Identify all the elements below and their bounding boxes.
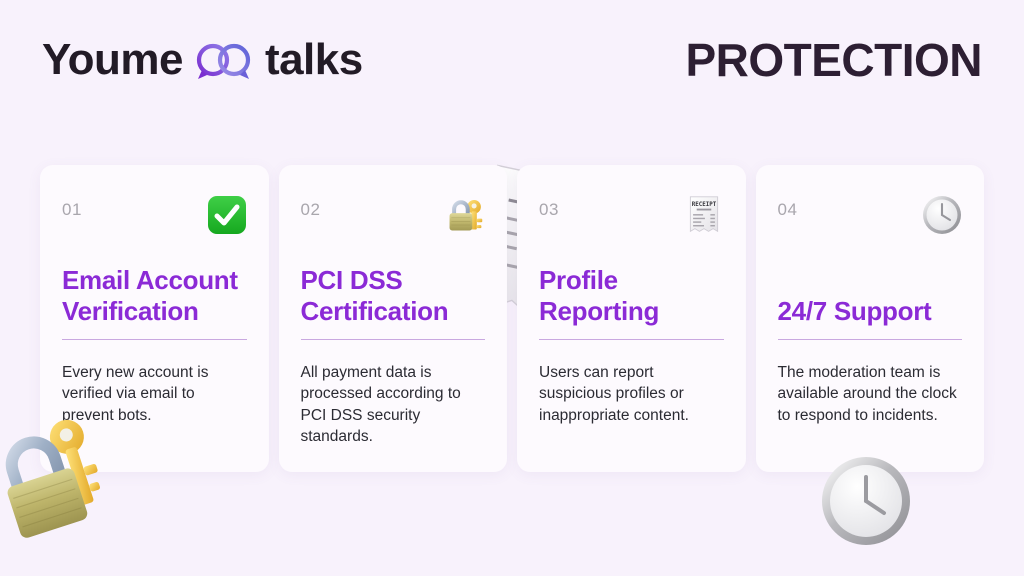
feature-card-pci-dss[interactable]: 02 — [279, 165, 508, 472]
card-header: 01 — [62, 195, 247, 241]
card-number: 01 — [62, 195, 82, 218]
card-title: Email Account Verification — [62, 265, 247, 328]
card-body-text: All payment data is processed according … — [301, 340, 486, 450]
page-title: PROTECTION — [685, 37, 982, 83]
card-body-text: Every new account is verified via email … — [62, 340, 247, 450]
card-title-wrap: PCI DSS Certification — [301, 241, 486, 328]
feature-card-24-7-support[interactable]: 04 — [756, 165, 985, 472]
card-title: 24/7 Support — [778, 296, 963, 328]
feature-card-profile-reporting[interactable]: 03 RECEIPT — [517, 165, 746, 472]
card-number: 02 — [301, 195, 321, 218]
locked-with-key-icon — [445, 195, 485, 235]
card-title-wrap: 24/7 Support — [778, 241, 963, 328]
card-header: 04 — [778, 195, 963, 241]
feature-card-email-verification[interactable]: 01 Email Account Verification Every ne — [40, 165, 269, 472]
card-number: 04 — [778, 195, 798, 218]
brand-logo[interactable]: Youme — [42, 38, 363, 82]
svg-text:RECEIPT: RECEIPT — [691, 202, 716, 208]
card-body-text: Users can report suspicious profiles or … — [539, 340, 724, 450]
clock-icon — [922, 195, 962, 235]
brand-name-right: talks — [265, 38, 363, 82]
card-title-wrap: Email Account Verification — [62, 241, 247, 328]
card-number: 03 — [539, 195, 559, 218]
card-title: PCI DSS Certification — [301, 265, 486, 328]
receipt-icon: RECEIPT — [684, 195, 724, 235]
card-title: Profile Reporting — [539, 265, 724, 328]
infinity-speech-bubbles-icon — [193, 38, 255, 82]
card-title-wrap: Profile Reporting — [539, 241, 724, 328]
protection-features-list: 01 Email Account Verification Every ne — [40, 165, 984, 472]
card-header: 02 — [301, 195, 486, 241]
brand-name-left: Youme — [42, 38, 183, 82]
page-header: Youme — [0, 0, 1024, 120]
card-header: 03 RECEIPT — [539, 195, 724, 241]
check-mark-button-icon — [207, 195, 247, 235]
card-body-text: The moderation team is available around … — [778, 340, 963, 450]
